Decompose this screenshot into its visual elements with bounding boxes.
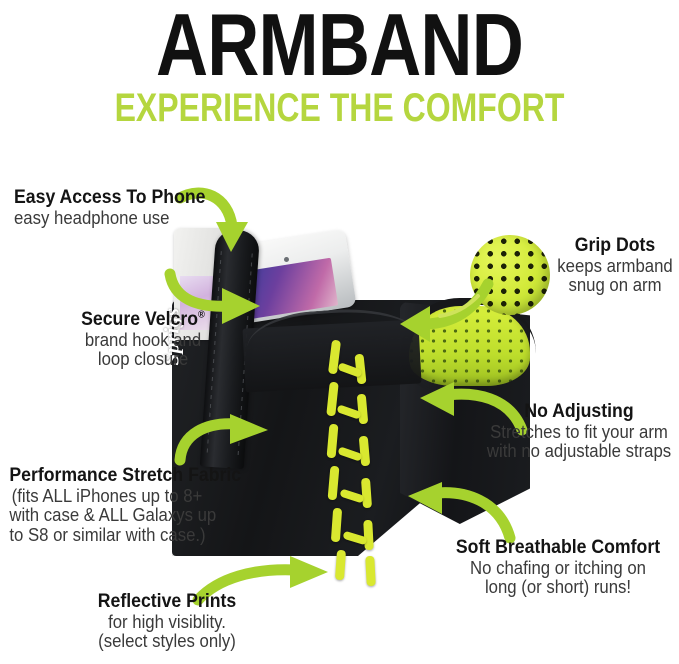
callout-secure-velcro-line-2: loop closure [62,350,224,370]
callout-soft-breathable-heading: Soft Breathable Comfort [448,538,667,559]
callout-grip-dots-line-1: keeps armband [556,257,673,277]
callout-secure-velcro: Secure Velcro® brand hook and loop closu… [56,310,230,370]
callout-reflective-prints-line-1: for high visiblity. [90,613,244,633]
callout-performance-fabric-line-1: (fits ALL iPhones up to 8+ [9,487,204,507]
page-title: ARMBAND [61,4,618,86]
callout-secure-velcro-heading: Secure Velcro® [62,310,224,331]
callout-reflective-prints-line-2: (select styles only) [90,632,244,652]
callout-no-adjusting-line-2: with no adjustable straps [487,442,671,462]
registered-trademark-icon: ® [198,310,205,321]
callout-secure-velcro-line-1: brand hook and [62,331,224,351]
callout-easy-access-heading: Easy Access To Phone [14,188,206,209]
callout-performance-fabric-heading: Performance Stretch Fabric [9,466,204,487]
title-block: ARMBAND EXPERIENCE THE COMFORT [0,4,679,128]
grip-dots-swatch-icon [470,235,550,315]
callout-soft-breathable: Soft Breathable Comfort No chafing or it… [440,538,676,598]
callout-grip-dots-heading: Grip Dots [556,236,673,257]
callout-grip-dots-line-2: snug on arm [556,276,673,296]
callout-performance-fabric: Performance Stretch Fabric (fits ALL iPh… [2,466,212,546]
infographic-page: ARMBAND EXPERIENCE THE COMFORT Sprigs [0,0,679,664]
armband-grip-lining [406,306,530,386]
callout-secure-velcro-heading-text: Secure Velcro [81,309,198,330]
callout-grip-dots: Grip Dots keeps armband snug on arm [552,236,678,296]
reflective-print-pattern [326,340,404,592]
callout-soft-breathable-line-1: No chafing or itching on [448,559,667,579]
callout-no-adjusting-line-1: Stretches to fit your arm [487,423,671,443]
callout-reflective-prints-heading: Reflective Prints [90,592,244,613]
callout-easy-access-line-1: easy headphone use [14,209,206,229]
callout-no-adjusting-heading: No Adjusting [487,402,671,423]
phone-sensor-icon [284,257,289,262]
callout-performance-fabric-line-2: with case & ALL Galaxys up [9,506,204,526]
callout-reflective-prints: Reflective Prints for high visiblity. (s… [84,592,250,652]
page-subtitle: EXPERIENCE THE COMFORT [68,88,611,128]
callout-no-adjusting: No Adjusting Stretches to fit your arm w… [480,402,678,462]
callout-performance-fabric-line-3: to S8 or similar with case.) [9,526,204,546]
callout-easy-access: Easy Access To Phone easy headphone use [14,188,220,228]
callout-soft-breathable-line-2: long (or short) runs! [448,578,667,598]
